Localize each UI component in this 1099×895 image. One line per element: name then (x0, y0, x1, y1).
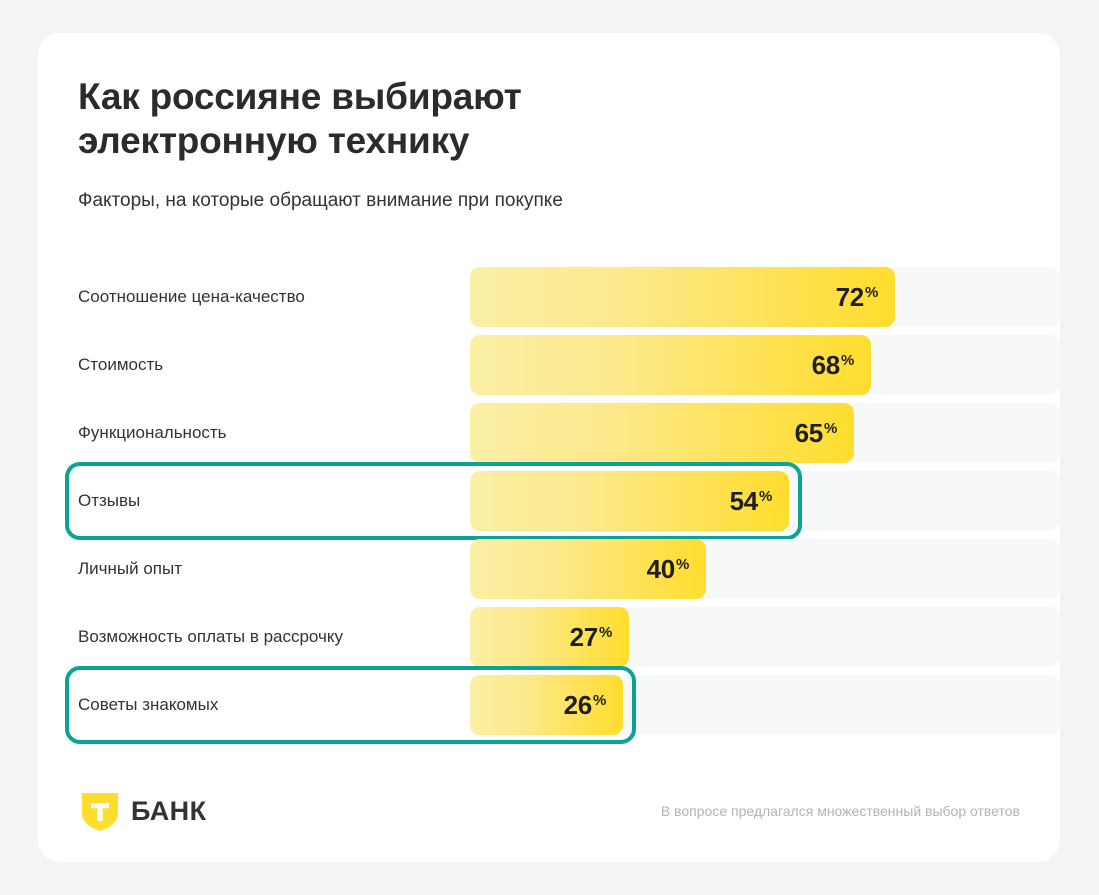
brand-name: БАНК (131, 798, 206, 825)
bar-track: 26% (470, 675, 1060, 735)
bar-row: Соотношение цена-качество72% (78, 267, 1060, 327)
bar-row-label: Возможность оплаты в рассрочку (78, 607, 458, 667)
bar-row: Отзывы54% (78, 471, 1060, 531)
bar-row-label: Отзывы (78, 471, 458, 531)
bar-track: 72% (470, 267, 1060, 327)
bar-row: Возможность оплаты в рассрочку27% (78, 607, 1060, 667)
bar-row-label: Функциональность (78, 403, 458, 463)
bar-fill: 68% (470, 335, 871, 395)
bar-row-label: Стоимость (78, 335, 458, 395)
page-subtitle: Факторы, на которые обращают внимание пр… (78, 189, 1018, 214)
brand-logo: БАНК (78, 789, 206, 833)
bar-value: 40% (647, 556, 689, 582)
page-title: Как россияне выбирают электронную техник… (78, 75, 638, 162)
bar-track: 54% (470, 471, 1060, 531)
percent-sign: % (593, 693, 606, 708)
percent-sign: % (759, 489, 772, 504)
footer: БАНК В вопросе предлагался множественный… (78, 785, 1020, 837)
bar-track: 65% (470, 403, 1060, 463)
percent-sign: % (599, 625, 612, 640)
bar-track: 40% (470, 539, 1060, 599)
bar-value-number: 27 (570, 624, 598, 650)
bar-value: 27% (570, 624, 612, 650)
bar-chart: Соотношение цена-качество72%Стоимость68%… (78, 267, 1060, 743)
percent-sign: % (865, 285, 878, 300)
bar-row: Функциональность65% (78, 403, 1060, 463)
chart-card: Как россияне выбирают электронную техник… (38, 33, 1060, 862)
infographic-page: Как россияне выбирают электронную техник… (0, 0, 1099, 895)
bar-fill: 27% (470, 607, 629, 667)
bar-fill: 65% (470, 403, 854, 463)
bar-track: 68% (470, 335, 1060, 395)
bar-value-number: 40 (647, 556, 675, 582)
bar-row: Стоимость68% (78, 335, 1060, 395)
bar-fill: 72% (470, 267, 895, 327)
chart-footnote: В вопросе предлагался множественный выбо… (661, 802, 1020, 820)
bar-value: 68% (812, 352, 854, 378)
header: Как россияне выбирают электронную техник… (78, 75, 1018, 214)
bar-value-number: 65 (795, 420, 823, 446)
bar-fill: 40% (470, 539, 706, 599)
bar-row-label: Соотношение цена-качество (78, 267, 458, 327)
t-bank-shield-icon (78, 789, 122, 833)
bar-fill: 26% (470, 675, 623, 735)
percent-sign: % (676, 557, 689, 572)
bar-value-number: 54 (730, 488, 758, 514)
bar-value: 65% (795, 420, 837, 446)
bar-value-number: 26 (564, 692, 592, 718)
bar-fill: 54% (470, 471, 789, 531)
percent-sign: % (841, 353, 854, 368)
bar-track: 27% (470, 607, 1060, 667)
bar-value: 26% (564, 692, 606, 718)
bar-value: 54% (730, 488, 772, 514)
bar-row: Личный опыт40% (78, 539, 1060, 599)
bar-row-label: Личный опыт (78, 539, 458, 599)
bar-row: Советы знакомых26% (78, 675, 1060, 735)
bar-value-number: 68 (812, 352, 840, 378)
bar-value: 72% (836, 284, 878, 310)
bar-row-label: Советы знакомых (78, 675, 458, 735)
percent-sign: % (824, 421, 837, 436)
bar-value-number: 72 (836, 284, 864, 310)
